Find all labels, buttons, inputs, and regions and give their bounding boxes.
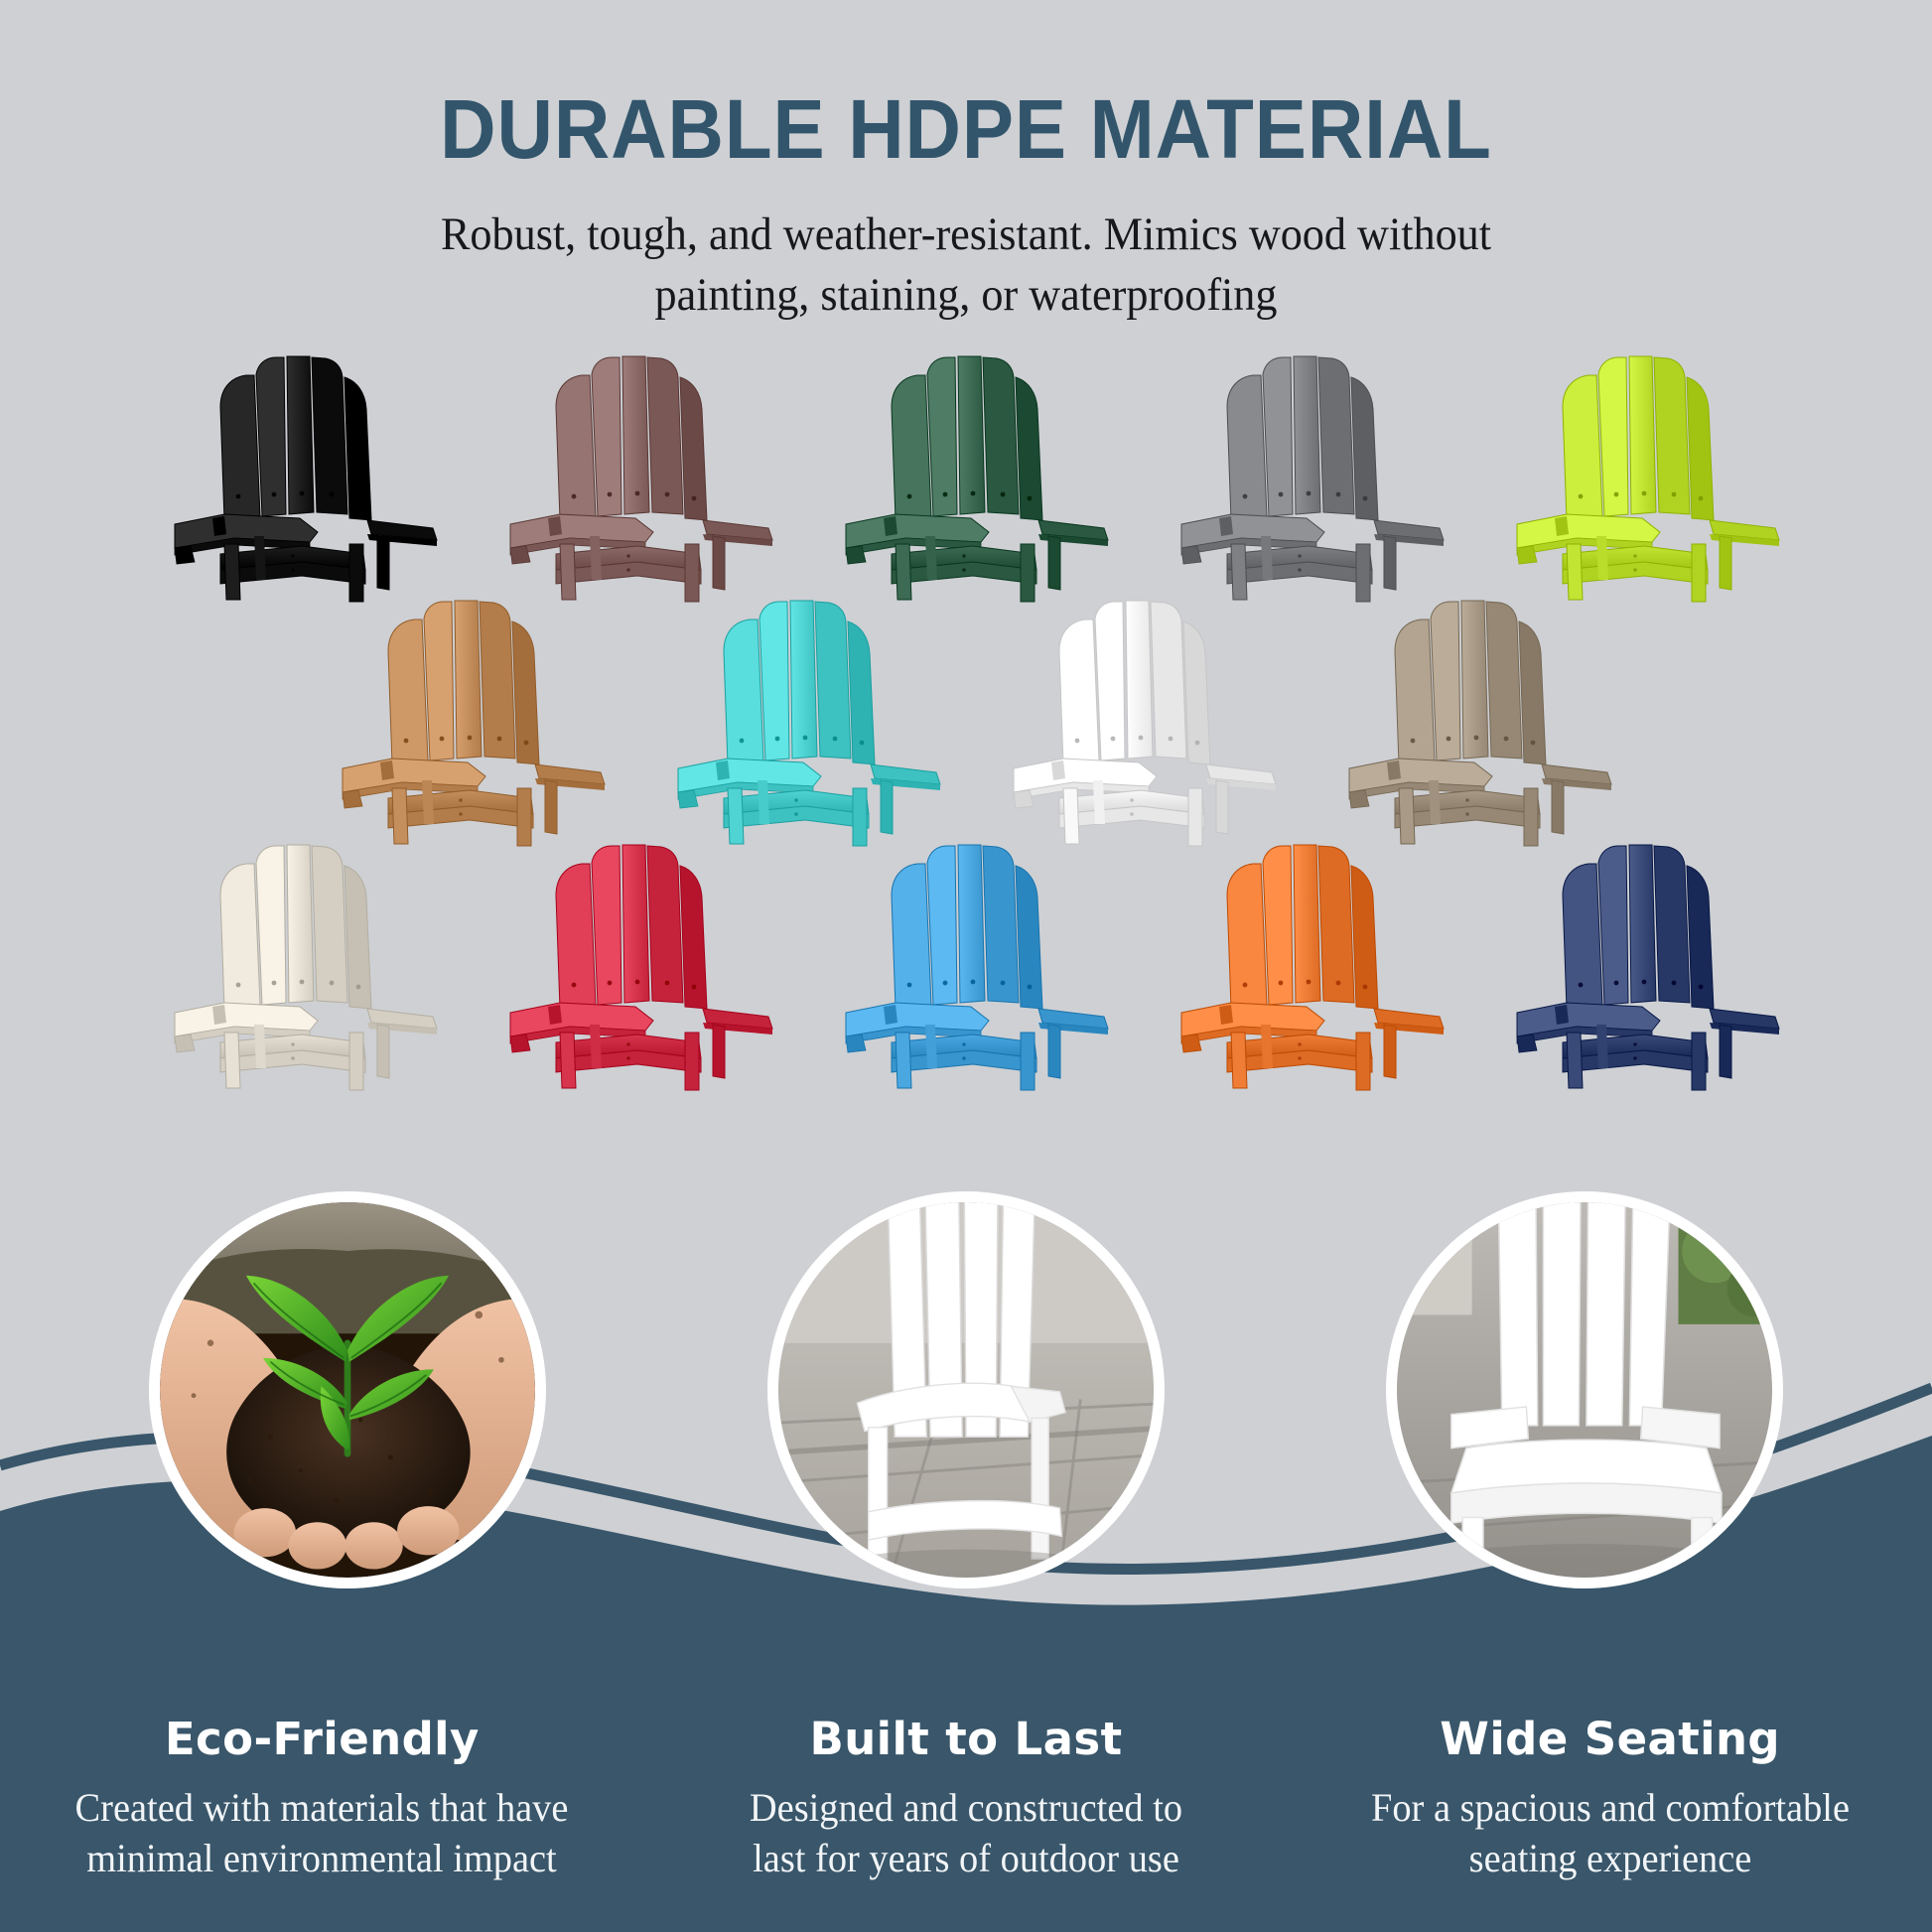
feature-desc-built-to-last: Designed and constructed tolast for year… (680, 1783, 1252, 1884)
feature-desc-line-2: last for years of outdoor use (680, 1834, 1252, 1884)
chair-row-3 (0, 838, 1932, 1094)
chair-row-1 (0, 349, 1932, 606)
chair-swatch-gray[interactable] (1158, 349, 1446, 606)
adirondack-chair-crimson-red[interactable] (486, 838, 774, 1094)
chair-swatch-khaki-taupe[interactable] (1325, 594, 1613, 850)
feature-desc-line-1: Designed and constructed to (680, 1783, 1252, 1834)
adirondack-chair-ivory-cream[interactable] (151, 838, 439, 1094)
infographic-canvas: DURABLE HDPE MATERIAL Robust, tough, and… (0, 0, 1932, 1932)
subtitle-line-1: Robust, tough, and weather-resistant. Mi… (332, 205, 1600, 265)
adirondack-chair-camel-tan[interactable] (319, 594, 607, 850)
chair-swatch-sky-blue[interactable] (822, 838, 1110, 1094)
adirondack-chair-lime-green[interactable] (1493, 349, 1781, 606)
photo-circle-eco-friendly (149, 1191, 546, 1588)
chair-swatch-orange[interactable] (1158, 838, 1446, 1094)
feature-title-wide-seating: Wide Seating (1440, 1713, 1780, 1765)
chair-color-grid (0, 349, 1932, 1094)
feature-desc-line-1: For a spacious and comfortable (1324, 1783, 1896, 1834)
adirondack-chair-turquoise[interactable] (654, 594, 942, 850)
feature-photo-row (0, 1191, 1932, 1628)
header-block: DURABLE HDPE MATERIAL Robust, tough, and… (0, 0, 1932, 326)
adirondack-chair-white[interactable] (990, 594, 1278, 850)
white-chair-wide-seat-photo (1397, 1202, 1772, 1578)
adirondack-chair-dusty-rose-brown[interactable] (486, 349, 774, 606)
chair-swatch-forest-green[interactable] (822, 349, 1110, 606)
adirondack-chair-black[interactable] (151, 349, 439, 606)
chair-swatch-camel-tan[interactable] (319, 594, 607, 850)
adirondack-chair-orange[interactable] (1158, 838, 1446, 1094)
feature-title-eco-friendly: Eco-Friendly (165, 1713, 480, 1765)
chair-swatch-black[interactable] (151, 349, 439, 606)
chair-swatch-lime-green[interactable] (1493, 349, 1781, 606)
page-title: DURABLE HDPE MATERIAL (68, 87, 1864, 173)
feature-title-built-to-last: Built to Last (810, 1713, 1123, 1765)
adirondack-chair-gray[interactable] (1158, 349, 1446, 606)
adirondack-chair-forest-green[interactable] (822, 349, 1110, 606)
white-chair-on-patio-photo (778, 1202, 1154, 1578)
chair-swatch-crimson-red[interactable] (486, 838, 774, 1094)
feature-desc-eco-friendly: Created with materials that haveminimal … (36, 1783, 608, 1884)
page-subtitle: Robust, tough, and weather-resistant. Mi… (332, 205, 1600, 326)
photo-circle-wide-seating (1386, 1191, 1783, 1588)
hands-holding-seedling-photo (160, 1202, 535, 1578)
feature-desc-line-2: minimal environmental impact (36, 1834, 608, 1884)
adirondack-chair-khaki-taupe[interactable] (1325, 594, 1613, 850)
adirondack-chair-navy-blue[interactable] (1493, 838, 1781, 1094)
chair-swatch-dusty-rose-brown[interactable] (486, 349, 774, 606)
feature-desc-line-1: Created with materials that have (36, 1783, 608, 1834)
photo-circle-built-to-last (767, 1191, 1165, 1588)
subtitle-line-2: painting, staining, or waterproofing (332, 265, 1600, 326)
feature-desc-line-2: seating experience (1324, 1834, 1896, 1884)
chair-swatch-navy-blue[interactable] (1493, 838, 1781, 1094)
chair-row-2 (0, 594, 1932, 850)
chair-swatch-white[interactable] (990, 594, 1278, 850)
adirondack-chair-sky-blue[interactable] (822, 838, 1110, 1094)
chair-swatch-ivory-cream[interactable] (151, 838, 439, 1094)
feature-desc-wide-seating: For a spacious and comfortableseating ex… (1324, 1783, 1896, 1884)
chair-swatch-turquoise[interactable] (654, 594, 942, 850)
